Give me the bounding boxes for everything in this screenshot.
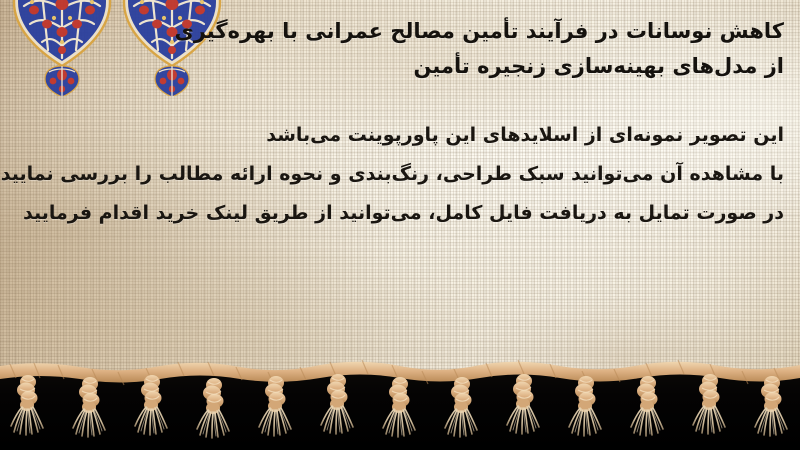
carpet-medallion-left bbox=[14, 0, 110, 66]
fringe-tassel bbox=[693, 374, 725, 434]
fringe-tassel bbox=[445, 377, 477, 437]
carpet-fringe bbox=[0, 352, 800, 450]
fringe-tassel bbox=[11, 375, 43, 435]
fringe-tassel bbox=[507, 374, 539, 434]
carpet-medallion-ornaments bbox=[0, 0, 250, 96]
fringe-tassel bbox=[755, 376, 787, 436]
fringe-tassel bbox=[383, 377, 415, 437]
fringe-tassel bbox=[259, 376, 291, 436]
fringe-tassel bbox=[631, 376, 663, 436]
fringe-tassel bbox=[321, 374, 353, 434]
fringe-tassel bbox=[569, 376, 601, 436]
fringe-tassel bbox=[135, 375, 167, 435]
carpet-medallion-right bbox=[124, 0, 220, 66]
slide-canvas: کاهش نوسانات در فرآیند تأمین مصالح عمران… bbox=[0, 0, 800, 450]
fringe-tassel bbox=[197, 378, 229, 438]
carpet-pendant-drop-left bbox=[45, 66, 79, 96]
carpet-pendant-drop-right bbox=[155, 66, 189, 96]
fringe-tassel bbox=[73, 377, 105, 437]
